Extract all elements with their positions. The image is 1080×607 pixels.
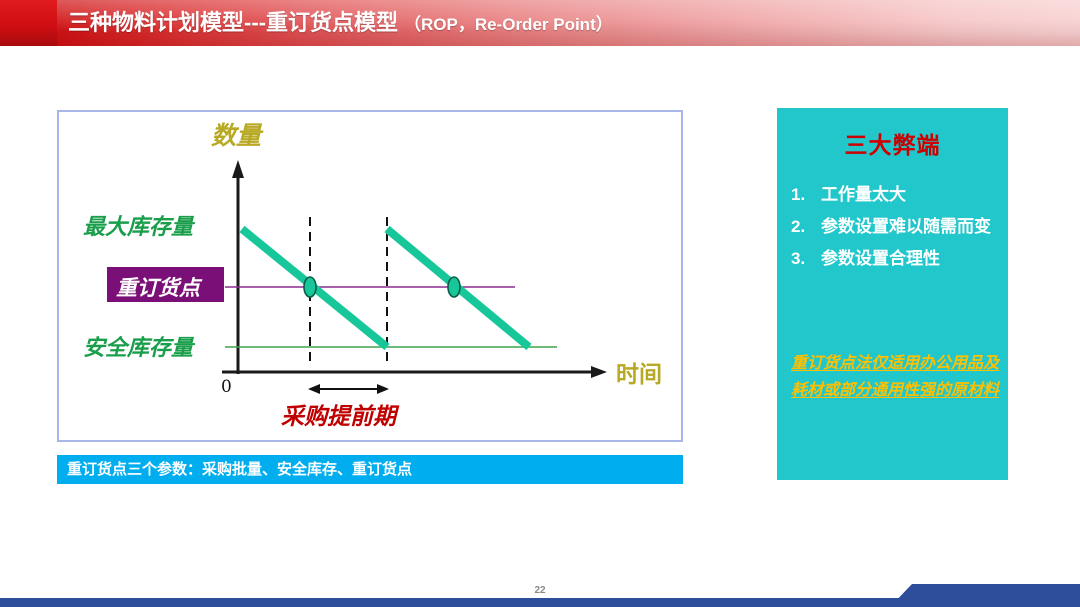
reorder-crossing-marker-2 xyxy=(448,277,460,297)
list-item: 2. 参数设置难以随需而变 xyxy=(791,212,1003,242)
y-axis xyxy=(232,160,244,374)
drawbacks-list: 1. 工作量太大 2. 参数设置难以随需而变 3. 参数设置合理性 xyxy=(791,180,1003,276)
reorder-crossing-marker-1 xyxy=(304,277,316,297)
chart-caption-bar: 重订货点三个参数：采购批量、安全库存、重订货点 xyxy=(57,455,683,484)
x-axis xyxy=(222,366,607,378)
page-title-main: 三种物料计划模型---重订货点模型 xyxy=(68,10,398,35)
page-title: 三种物料计划模型---重订货点模型（ROP，Re-Order Point） xyxy=(68,0,613,46)
drawbacks-heading: 三大弊端 xyxy=(777,126,1008,160)
origin-label: 0 xyxy=(221,377,232,397)
x-axis-label: 时间 xyxy=(616,361,662,388)
list-item: 1. 工作量太大 xyxy=(791,180,1003,210)
title-accent-block xyxy=(0,0,57,46)
list-item-number: 3. xyxy=(791,244,821,274)
lead-time-label: 采购提前期 xyxy=(281,403,400,430)
list-item-label: 参数设置合理性 xyxy=(821,244,1003,274)
max-inventory-label: 最大库存量 xyxy=(83,214,196,240)
list-item-number: 1. xyxy=(791,180,821,210)
lead-time-arrow xyxy=(308,384,389,394)
page-title-sub: （ROP，Re-Order Point） xyxy=(398,15,613,34)
list-item-label: 工作量太大 xyxy=(821,180,1003,210)
list-item: 3. 参数设置合理性 xyxy=(791,244,1003,274)
safety-stock-label: 安全库存量 xyxy=(83,335,196,361)
svg-text:重订货点: 重订货点 xyxy=(116,275,203,300)
reorder-point-badge: 重订货点 xyxy=(107,267,224,302)
rop-inventory-chart: 数量 时间 0 最大库存量 重订货点 安全库存量 采购提前期 xyxy=(59,112,681,440)
list-item-number: 2. xyxy=(791,212,821,242)
y-axis-label: 数量 xyxy=(211,121,264,150)
list-item-label: 参数设置难以随需而变 xyxy=(821,212,1003,242)
chart-caption-text: 重订货点三个参数：采购批量、安全库存、重订货点 xyxy=(67,455,412,484)
slide-title-bar: 三种物料计划模型---重订货点模型（ROP，Re-Order Point） xyxy=(0,0,1080,46)
drawbacks-note: 重订货点法仅适用办公用品及耗材或部分通用性强的原材料 xyxy=(791,350,999,404)
drawbacks-panel: 三大弊端 1. 工作量太大 2. 参数设置难以随需而变 3. 参数设置合理性 重… xyxy=(777,108,1008,480)
rop-diagram-frame: 数量 时间 0 最大库存量 重订货点 安全库存量 采购提前期 xyxy=(57,110,683,442)
